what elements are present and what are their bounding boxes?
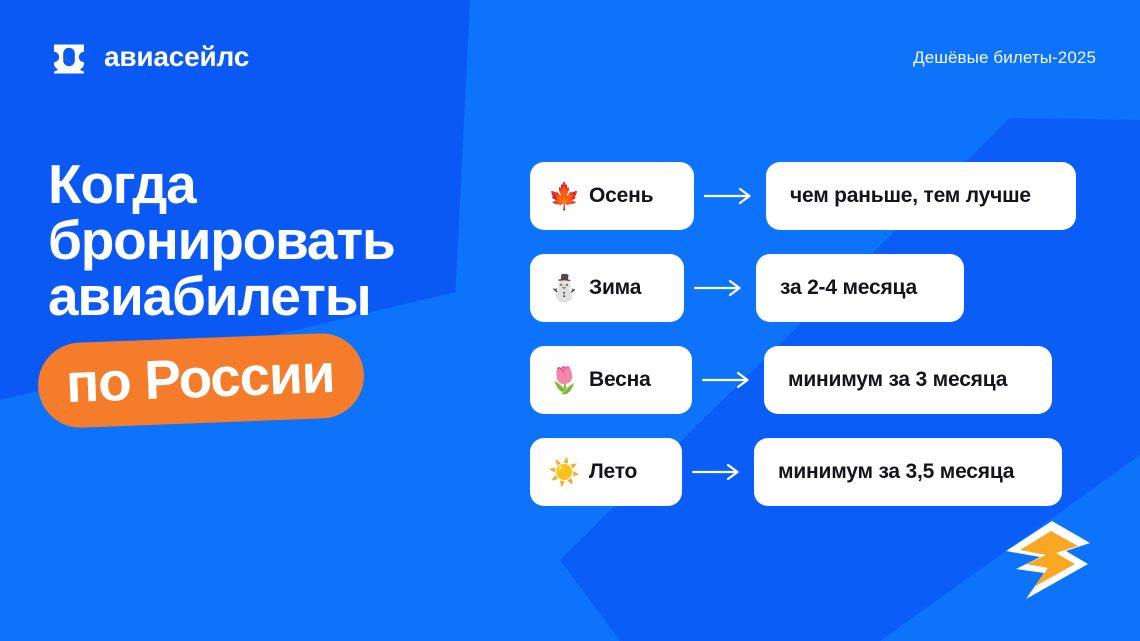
header-tagline: Дешёвые билеты-2025 (913, 48, 1096, 68)
lightning-bolt-icon (982, 517, 1094, 603)
headline-block: Когда бронировать авиабилеты по России (48, 158, 518, 423)
infographic-canvas: авиасейлс Дешёвые билеты-2025 Когда брон… (0, 0, 1140, 641)
tulip-icon: 🌷 (548, 367, 578, 393)
answer-card[interactable]: минимум за 3 месяца (764, 346, 1052, 414)
maple-leaf-icon: 🍁 (548, 183, 578, 209)
arrow-right-icon (694, 187, 766, 205)
headline-line-1: Когда (48, 158, 518, 212)
answer-label: чем раньше, тем лучше (790, 184, 1031, 208)
arrow-right-icon (682, 463, 754, 481)
season-row: 🌷Веснаминимум за 3 месяца (530, 346, 1076, 414)
season-card[interactable]: ☀️Лето (530, 438, 682, 506)
arrow-right-icon (692, 371, 764, 389)
season-row: 🍁Осеньчем раньше, тем лучше (530, 162, 1076, 230)
headline-highlight-text: по России (65, 346, 335, 411)
season-label: Весна (589, 368, 651, 392)
arrow-right-icon (684, 279, 756, 297)
headline-line-3: авиабилеты (48, 270, 518, 324)
season-card[interactable]: 🌷Весна (530, 346, 692, 414)
headline-highlight-pill: по России (36, 331, 365, 428)
season-card[interactable]: 🍁Осень (530, 162, 694, 230)
answer-label: минимум за 3 месяца (788, 368, 1007, 392)
snowman-icon: ⛄ (548, 275, 578, 301)
season-rows: 🍁Осеньчем раньше, тем лучше⛄Зимаза 2-4 м… (530, 162, 1076, 506)
season-label: Осень (589, 184, 653, 208)
brand-name: авиасейлс (104, 43, 249, 71)
season-row: ☀️Летоминимум за 3,5 месяца (530, 438, 1076, 506)
answer-card[interactable]: за 2-4 месяца (756, 254, 964, 322)
sun-icon: ☀️ (548, 459, 578, 485)
answer-card[interactable]: чем раньше, тем лучше (766, 162, 1076, 230)
headline-line-2: бронировать (48, 214, 518, 268)
brand-logo[interactable]: авиасейлс (48, 36, 249, 78)
answer-label: минимум за 3,5 месяца (778, 460, 1014, 484)
season-row: ⛄Зимаза 2-4 месяца (530, 254, 1076, 322)
answer-card[interactable]: минимум за 3,5 месяца (754, 438, 1062, 506)
season-label: Лето (589, 460, 637, 484)
aviasales-ticket-icon (48, 36, 90, 78)
header: авиасейлс Дешёвые билеты-2025 (0, 0, 1140, 110)
season-card[interactable]: ⛄Зима (530, 254, 684, 322)
answer-label: за 2-4 месяца (780, 276, 917, 300)
season-label: Зима (589, 276, 641, 300)
